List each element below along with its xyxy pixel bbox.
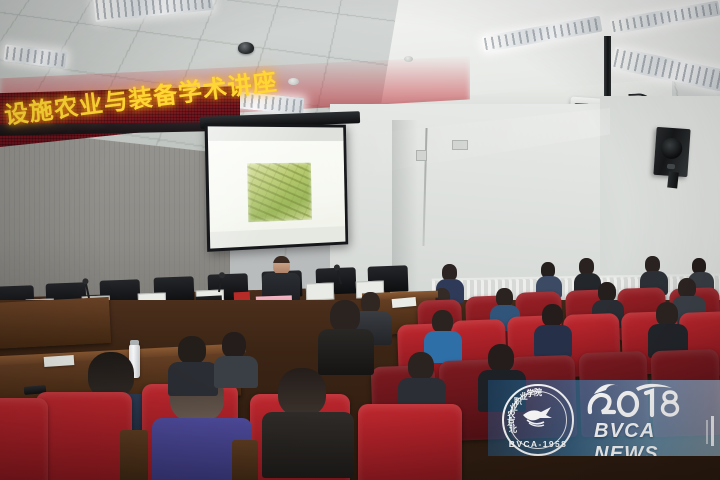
college-seal-logo: 北 京 农 业 职 业 学 院 BVCA-1958	[502, 384, 574, 456]
name-card	[306, 283, 335, 301]
seal-en-text: BVCA-1958	[504, 439, 572, 449]
lecture-hall-photo: 设施农业与装备学术讲座	[0, 0, 720, 480]
watermark-bar	[706, 420, 708, 444]
audience-desk	[0, 297, 111, 349]
year-2018-logo	[584, 382, 688, 422]
speaker-driver-icon	[661, 137, 683, 159]
wall-speaker	[653, 127, 690, 177]
auditorium-seat	[0, 398, 48, 480]
seat-armrest	[232, 440, 258, 480]
bottle-cap	[130, 340, 139, 345]
screen-glare	[208, 126, 346, 248]
watermark-overlay: 北 京 农 业 职 业 学 院 BVCA-1958 BVCA NEWS	[488, 380, 720, 456]
paper-sheet	[44, 355, 75, 367]
wall-outlet-box	[416, 150, 427, 161]
projector-mount-pole	[604, 36, 611, 102]
dome-camera-icon	[238, 42, 254, 54]
wall-outlet-box	[452, 140, 468, 150]
speaker-tweeter-icon	[667, 164, 675, 170]
auditorium-seat	[358, 404, 462, 480]
speaker-bracket	[667, 172, 679, 189]
smoke-detector-icon	[288, 78, 299, 85]
brand-text: BVCA NEWS	[594, 420, 720, 456]
smoke-detector-icon	[404, 56, 413, 62]
projection-screen	[204, 123, 348, 252]
seat-armrest	[120, 430, 148, 480]
watermark-bar	[711, 416, 714, 446]
auditorium-seat	[36, 392, 132, 480]
